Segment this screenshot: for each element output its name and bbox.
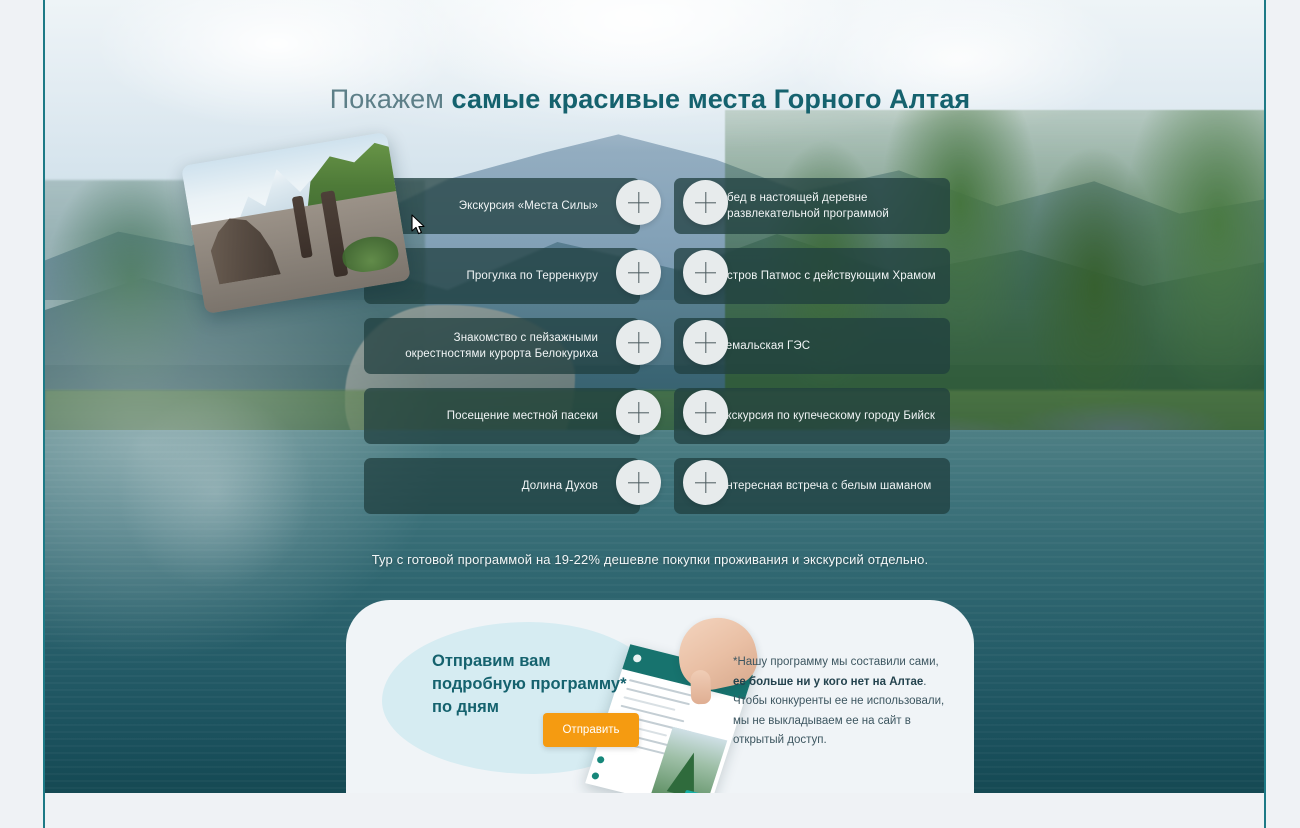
option-label: Прогулка по Терренкуру	[467, 268, 598, 284]
plus-icon[interactable]	[683, 180, 728, 225]
option-label: Долина Духов	[522, 478, 598, 494]
option-label: Интересная встреча с белым шаманом	[718, 478, 931, 494]
note-line-5: открытый доступ.	[733, 734, 827, 746]
option-label: Экскурсия «Места Силы»	[459, 198, 598, 214]
page-root: Покажем самые красивые места Горного Алт…	[0, 0, 1300, 828]
right-guide-rail	[1264, 0, 1266, 828]
program-disclaimer-note: *Нашу программу мы составили сами, ее бо…	[733, 653, 948, 751]
plus-icon[interactable]	[616, 180, 661, 225]
page-title-bold: самые красивые места Горного Алтая	[452, 84, 971, 114]
note-line-2-tail: .	[923, 676, 926, 688]
note-line-1: *Нашу программу мы составили сами,	[733, 656, 939, 668]
plus-icon[interactable]	[616, 320, 661, 365]
option-card-left[interactable]: Посещение местной пасеки	[364, 388, 640, 444]
brochure-tree-icon	[667, 749, 708, 793]
option-label: Остров Патмос с действующим Храмом	[718, 268, 936, 284]
option-row: Прогулка по Терренкуру Остров Патмос с д…	[364, 248, 950, 304]
price-note: Тур с готовой программой на 19-22% дешев…	[0, 552, 1300, 567]
left-margin-strip	[0, 0, 43, 828]
plus-icon[interactable]	[683, 250, 728, 295]
cta-heading: Отправим вам подробную программу* по дня…	[432, 650, 662, 719]
plus-icon[interactable]	[683, 460, 728, 505]
thumb-shape	[690, 670, 711, 705]
send-button[interactable]: Отправить	[543, 713, 639, 747]
plus-icon[interactable]	[616, 390, 661, 435]
page-title: Покажем самые красивые места Горного Алт…	[0, 84, 1300, 115]
note-line-4: мы не выкладываем ее на сайт в	[733, 715, 911, 727]
option-label: Обед в настоящей деревне с развлекательн…	[718, 190, 889, 222]
excursion-options-list: Экскурсия «Места Силы» Обед в настоящей …	[364, 178, 950, 528]
option-row: Экскурсия «Места Силы» Обед в настоящей …	[364, 178, 950, 234]
right-margin-strip	[1266, 0, 1300, 828]
plus-icon[interactable]	[616, 460, 661, 505]
option-row: Знакомство с пейзажными окрестностями ку…	[364, 318, 950, 374]
option-label: Посещение местной пасеки	[447, 408, 598, 424]
option-card-left[interactable]: Экскурсия «Места Силы»	[364, 178, 640, 234]
option-label: Знакомство с пейзажными окрестностями ку…	[405, 330, 598, 362]
note-line-3: Чтобы конкуренты ее не использовали,	[733, 695, 944, 707]
left-guide-rail	[43, 0, 45, 828]
option-row: Посещение местной пасеки Экскурсия по ку…	[364, 388, 950, 444]
page-title-light: Покажем	[330, 84, 452, 114]
note-line-2-bold: ее больше ни у кого нет на Алтае	[733, 676, 923, 688]
option-label: Экскурсия по купеческому городу Бийск	[718, 408, 935, 424]
option-label: Чемальская ГЭС	[718, 338, 810, 354]
plus-icon[interactable]	[616, 250, 661, 295]
plus-icon[interactable]	[683, 320, 728, 365]
option-card-left[interactable]: Долина Духов	[364, 458, 640, 514]
option-row: Долина Духов Интересная встреча с белым …	[364, 458, 950, 514]
option-card-left[interactable]: Знакомство с пейзажными окрестностями ку…	[364, 318, 640, 374]
plus-icon[interactable]	[683, 390, 728, 435]
